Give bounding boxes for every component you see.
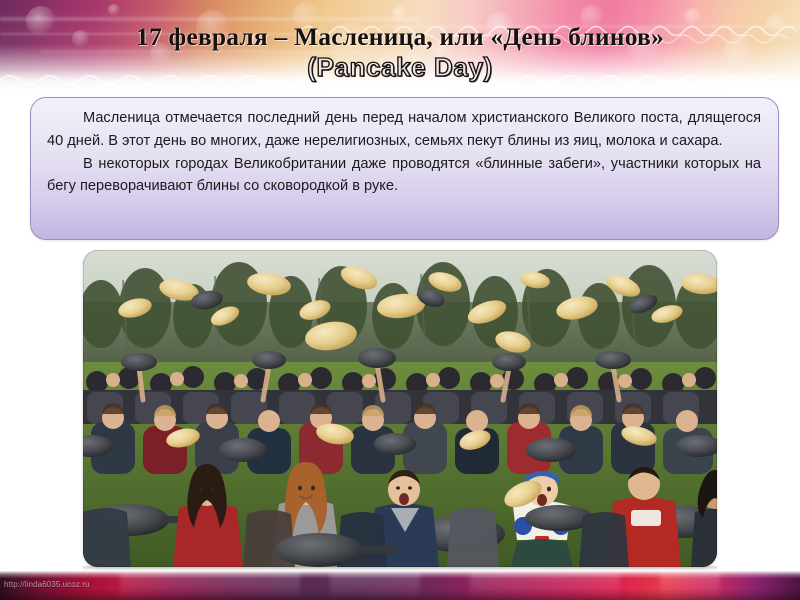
bokeh-dot	[684, 8, 702, 26]
bokeh-dot	[724, 36, 754, 66]
bokeh-dot	[72, 30, 90, 48]
light-streak	[40, 50, 400, 53]
bokeh-dot	[196, 10, 230, 44]
light-streak	[0, 32, 300, 36]
bokeh-dot	[580, 5, 604, 29]
footer-reflection	[470, 571, 620, 600]
footer-bar	[0, 571, 800, 600]
bokeh-dot	[292, 2, 318, 28]
paragraph-2: В некоторых городах Великобритании даже …	[47, 153, 761, 199]
light-streak	[0, 16, 420, 22]
slide-canvas: 17 февраля – Масленица, или «День блинов…	[0, 0, 800, 600]
footer-reflection	[660, 571, 720, 600]
bokeh-dot	[432, 40, 452, 60]
bokeh-dot	[248, 33, 262, 47]
bokeh-dot	[108, 4, 120, 16]
bokeh-dot	[26, 6, 56, 36]
bokeh-dot	[540, 34, 553, 47]
bokeh-dot	[626, 26, 664, 64]
paragraph-1: Масленица отмечается последний день пере…	[47, 107, 761, 153]
bokeh-dot	[150, 42, 172, 64]
pancake-race-illustration	[83, 250, 717, 567]
wave-line-mid	[0, 28, 800, 50]
banner-bottom-fade	[0, 70, 800, 96]
light-streak	[380, 24, 800, 29]
bokeh-dot	[392, 6, 408, 22]
header-banner	[0, 0, 800, 96]
bokeh-dot	[486, 12, 514, 40]
source-url[interactable]: http://linda6035.ucoz.ru	[4, 580, 90, 589]
text-card: Масленица отмечается последний день пере…	[30, 97, 779, 240]
pancake-race-photo	[83, 250, 717, 567]
bokeh-dot	[330, 22, 374, 66]
footer-reflection	[120, 571, 300, 600]
footer-reflection	[330, 571, 420, 600]
bokeh-dot	[766, 14, 786, 34]
wave-line-bottom	[0, 68, 800, 90]
wave-line-top	[0, 18, 800, 40]
